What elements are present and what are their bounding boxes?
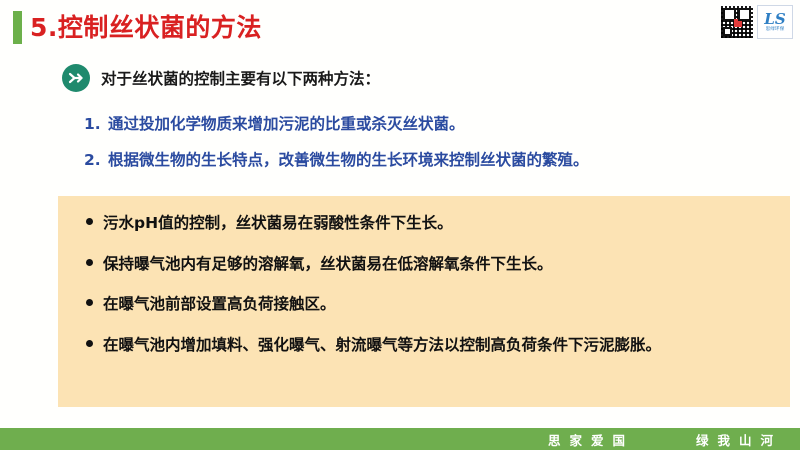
qr-code-icon <box>720 5 754 39</box>
callout-box: 污水pH值的控制，丝状菌易在弱酸性条件下生长。 保持曝气池内有足够的溶解氧，丝状… <box>58 196 790 407</box>
double-arrow-right-icon <box>62 64 90 92</box>
intro-text: 对于丝状菌的控制主要有以下两种方法： <box>101 67 380 89</box>
footer-slogan-left: 思家爱国 <box>548 430 634 449</box>
methods-list: 1. 通过投加化学物质来增加污泥的比重或杀灭丝状菌。 2. 根据微生物的生长特点… <box>84 112 784 184</box>
bullet-dot-icon <box>86 218 93 225</box>
qr-center-icon <box>734 19 742 27</box>
bullet-label: 在曝气池前部设置高负荷接触区。 <box>103 291 336 318</box>
list-item-index: 2. <box>84 151 100 169</box>
bullet-label: 污水pH值的控制，丝状菌易在弱酸性条件下生长。 <box>103 210 453 237</box>
title-accent-bar <box>13 11 22 44</box>
branding-block: LS 思绿环保 <box>720 5 793 39</box>
bullet-dot-icon <box>86 340 93 347</box>
list-item: 在曝气池内增加填料、强化曝气、射流曝气等方法以控制高负荷条件下污泥膨胀。 <box>76 332 772 359</box>
list-item: 污水pH值的控制，丝状菌易在弱酸性条件下生长。 <box>76 210 772 237</box>
list-item: 在曝气池前部设置高负荷接触区。 <box>76 291 772 318</box>
slide-canvas: 5.控制丝状菌的方法 LS 思绿环保 对于丝状菌的控制主要有以下两种方法： 1.… <box>0 0 800 450</box>
list-item: 2. 根据微生物的生长特点，改善微生物的生长环境来控制丝状菌的繁殖。 <box>84 148 784 170</box>
bullet-dot-icon <box>86 259 93 266</box>
list-item-index: 1. <box>84 115 100 133</box>
bullet-label: 在曝气池内增加填料、强化曝气、射流曝气等方法以控制高负荷条件下污泥膨胀。 <box>103 332 661 359</box>
list-item: 1. 通过投加化学物质来增加污泥的比重或杀灭丝状菌。 <box>84 112 784 134</box>
footer-slogan-right: 绿我山河 <box>696 430 782 449</box>
page-title: 5.控制丝状菌的方法 <box>30 8 262 44</box>
list-item: 保持曝气池内有足够的溶解氧，丝状菌易在低溶解氧条件下生长。 <box>76 251 772 278</box>
bullet-dot-icon <box>86 299 93 306</box>
logo-label: 思绿环保 <box>766 28 785 33</box>
company-logo: LS 思绿环保 <box>757 5 793 39</box>
footer-bar: 思家爱国 绿我山河 <box>0 428 800 450</box>
logo-mark-icon: LS <box>764 12 785 27</box>
intro-row: 对于丝状菌的控制主要有以下两种方法： <box>62 64 380 92</box>
list-item-label: 根据微生物的生长特点，改善微生物的生长环境来控制丝状菌的繁殖。 <box>108 148 589 170</box>
bullet-label: 保持曝气池内有足够的溶解氧，丝状菌易在低溶解氧条件下生长。 <box>103 251 553 278</box>
qr-finder-icon <box>723 27 732 36</box>
list-item-label: 通过投加化学物质来增加污泥的比重或杀灭丝状菌。 <box>108 112 465 134</box>
